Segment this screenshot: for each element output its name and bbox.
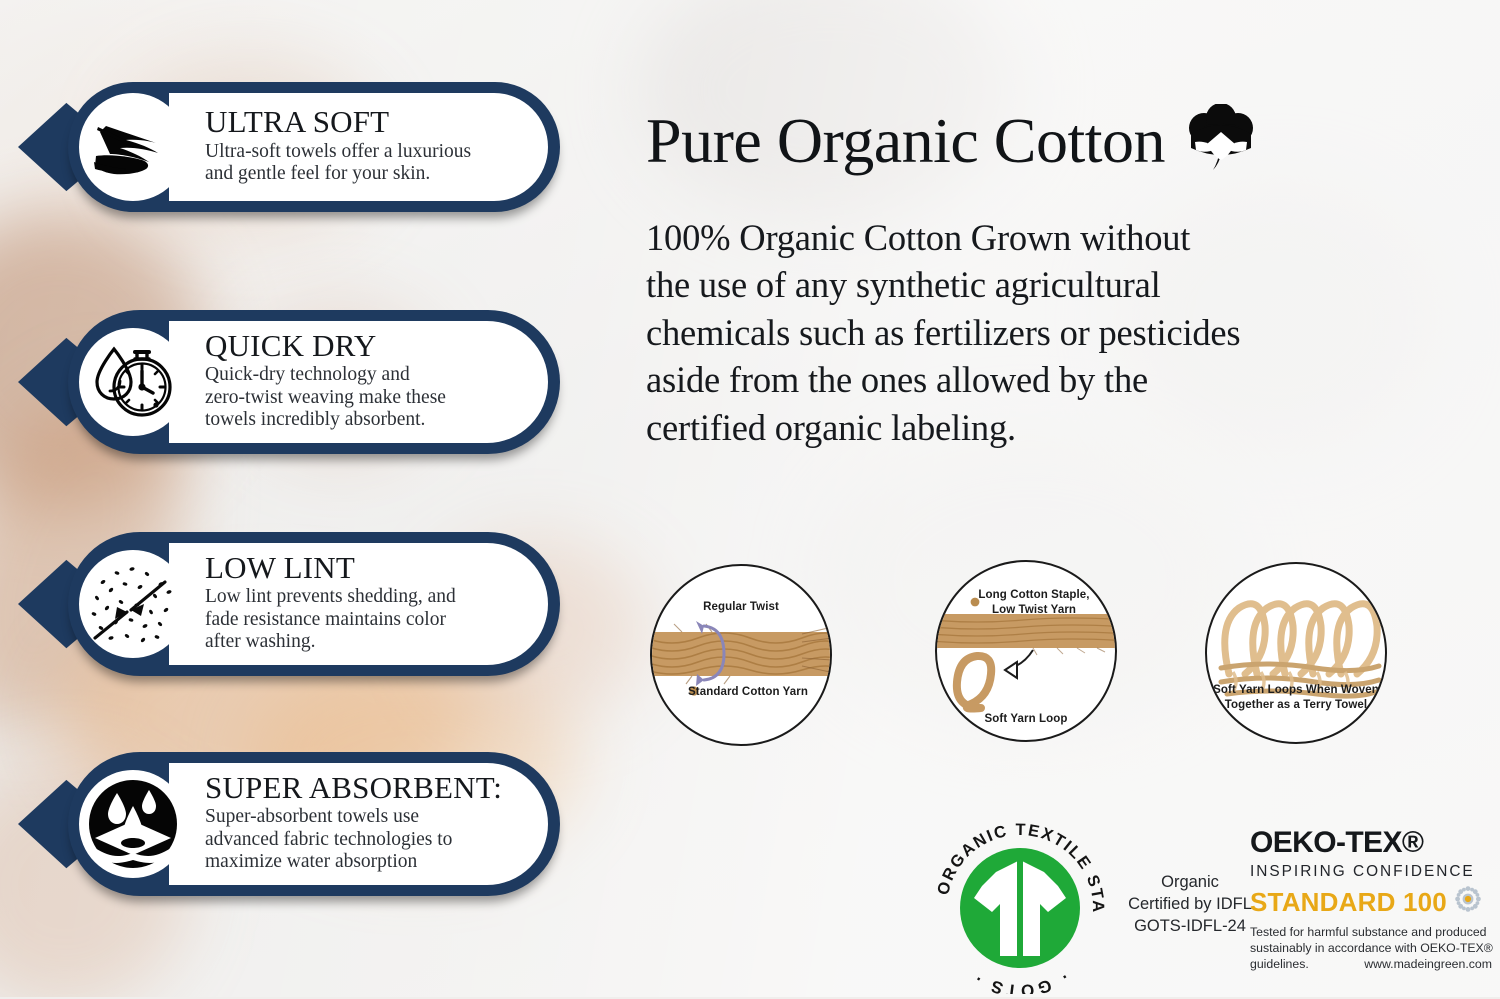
feature-title: ULTRA SOFT [205, 106, 508, 138]
oeko-tex-standard-label: STANDARD 100 [1250, 889, 1447, 915]
low-twist-yarn-diagram: Long Cotton Staple, Low Twist Yarn Soft … [935, 560, 1117, 742]
feature-text-block: LOW LINT Low lint prevents shedding, and… [169, 543, 548, 665]
feature-list: ULTRA SOFT Ultra-soft towels offer a lux… [0, 0, 600, 997]
oeko-tex-badge: OEKO-TEX® INSPIRING CONFIDENCE STANDARD … [1250, 828, 1500, 973]
feature-card-super-absorbent[interactable]: SUPER ABSORBENT: Super-absorbent towels … [20, 752, 560, 896]
hero-content: Pure Organic Cotton 100% Organi [640, 0, 1500, 997]
yarn-bottom-label-line2: Together as a Terry Towel [1207, 698, 1385, 712]
feature-description: Low lint prevents shedding, and fade res… [205, 586, 508, 654]
feature-text-block: QUICK DRY Quick-dry technology and zero-… [169, 321, 548, 443]
feature-text-block: SUPER ABSORBENT: Super-absorbent towels … [169, 763, 548, 885]
feature-title: LOW LINT [205, 552, 508, 584]
yarn-diagram-row: Regular Twist Standard Cotton Yarn [640, 560, 1500, 760]
yarn-top-label-line2: Low Twist Yarn [937, 603, 1115, 617]
feature-description: Ultra-soft towels offer a luxurious and … [205, 141, 508, 186]
yarn-bottom-label: Soft Yarn Loop [937, 712, 1115, 726]
oeko-tex-fine-print: Tested for harmful substance and produce… [1250, 925, 1500, 973]
water-drop-stopwatch-icon [79, 328, 187, 436]
yarn-top-label-line1: Long Cotton Staple, [937, 588, 1115, 602]
gots-logo-icon: GLOBAL ORGANIC TEXTILE STANDARD · GOTS · [930, 816, 1110, 994]
oeko-tex-guidelines-text: guidelines. [1250, 957, 1309, 973]
svg-text:· GOTS ·: · GOTS · [968, 967, 1072, 994]
lint-particles-arrows-icon [79, 550, 187, 658]
oeko-tex-subtitle: INSPIRING CONFIDENCE [1250, 864, 1500, 879]
feature-card-ultra-soft[interactable]: ULTRA SOFT Ultra-soft towels offer a lux… [20, 82, 560, 212]
page-title: Pure Organic Cotton [646, 109, 1165, 173]
feature-card-quick-dry[interactable]: QUICK DRY Quick-dry technology and zero-… [20, 310, 560, 454]
feature-card-low-lint[interactable]: LOW LINT Low lint prevents shedding, and… [20, 532, 560, 676]
yarn-bottom-label: Standard Cotton Yarn [652, 685, 830, 699]
feature-description: Quick-dry technology and zero-twist weav… [205, 364, 508, 432]
feather-in-hand-icon [79, 93, 187, 201]
cotton-boll-icon [1183, 104, 1259, 183]
certification-bar: GLOBAL ORGANIC TEXTILE STANDARD · GOTS ·… [640, 808, 1500, 998]
oeko-tex-website: www.madeingreen.com [1364, 957, 1492, 973]
terry-towel-loops-diagram: Soft Yarn Loops When Woven Together as a… [1205, 562, 1387, 744]
feature-title: QUICK DRY [205, 330, 508, 362]
oeko-tex-title: OEKO-TEX® [1250, 828, 1500, 858]
feature-text-block: ULTRA SOFT Ultra-soft towels offer a lux… [169, 93, 548, 201]
yarn-top-label: Regular Twist [652, 600, 830, 614]
water-drops-fabric-icon [79, 770, 187, 878]
headline-row: Pure Organic Cotton [646, 98, 1259, 183]
feature-description: Super-absorbent towels use advanced fabr… [205, 806, 508, 874]
feature-title: SUPER ABSORBENT: [205, 772, 508, 804]
yarn-bottom-label-line1: Soft Yarn Loops When Woven [1207, 683, 1385, 697]
body-paragraph: 100% Organic Cotton Grown without the us… [646, 214, 1474, 451]
regular-twist-diagram: Regular Twist Standard Cotton Yarn [650, 564, 832, 746]
oeko-tex-sun-icon [1455, 886, 1481, 917]
